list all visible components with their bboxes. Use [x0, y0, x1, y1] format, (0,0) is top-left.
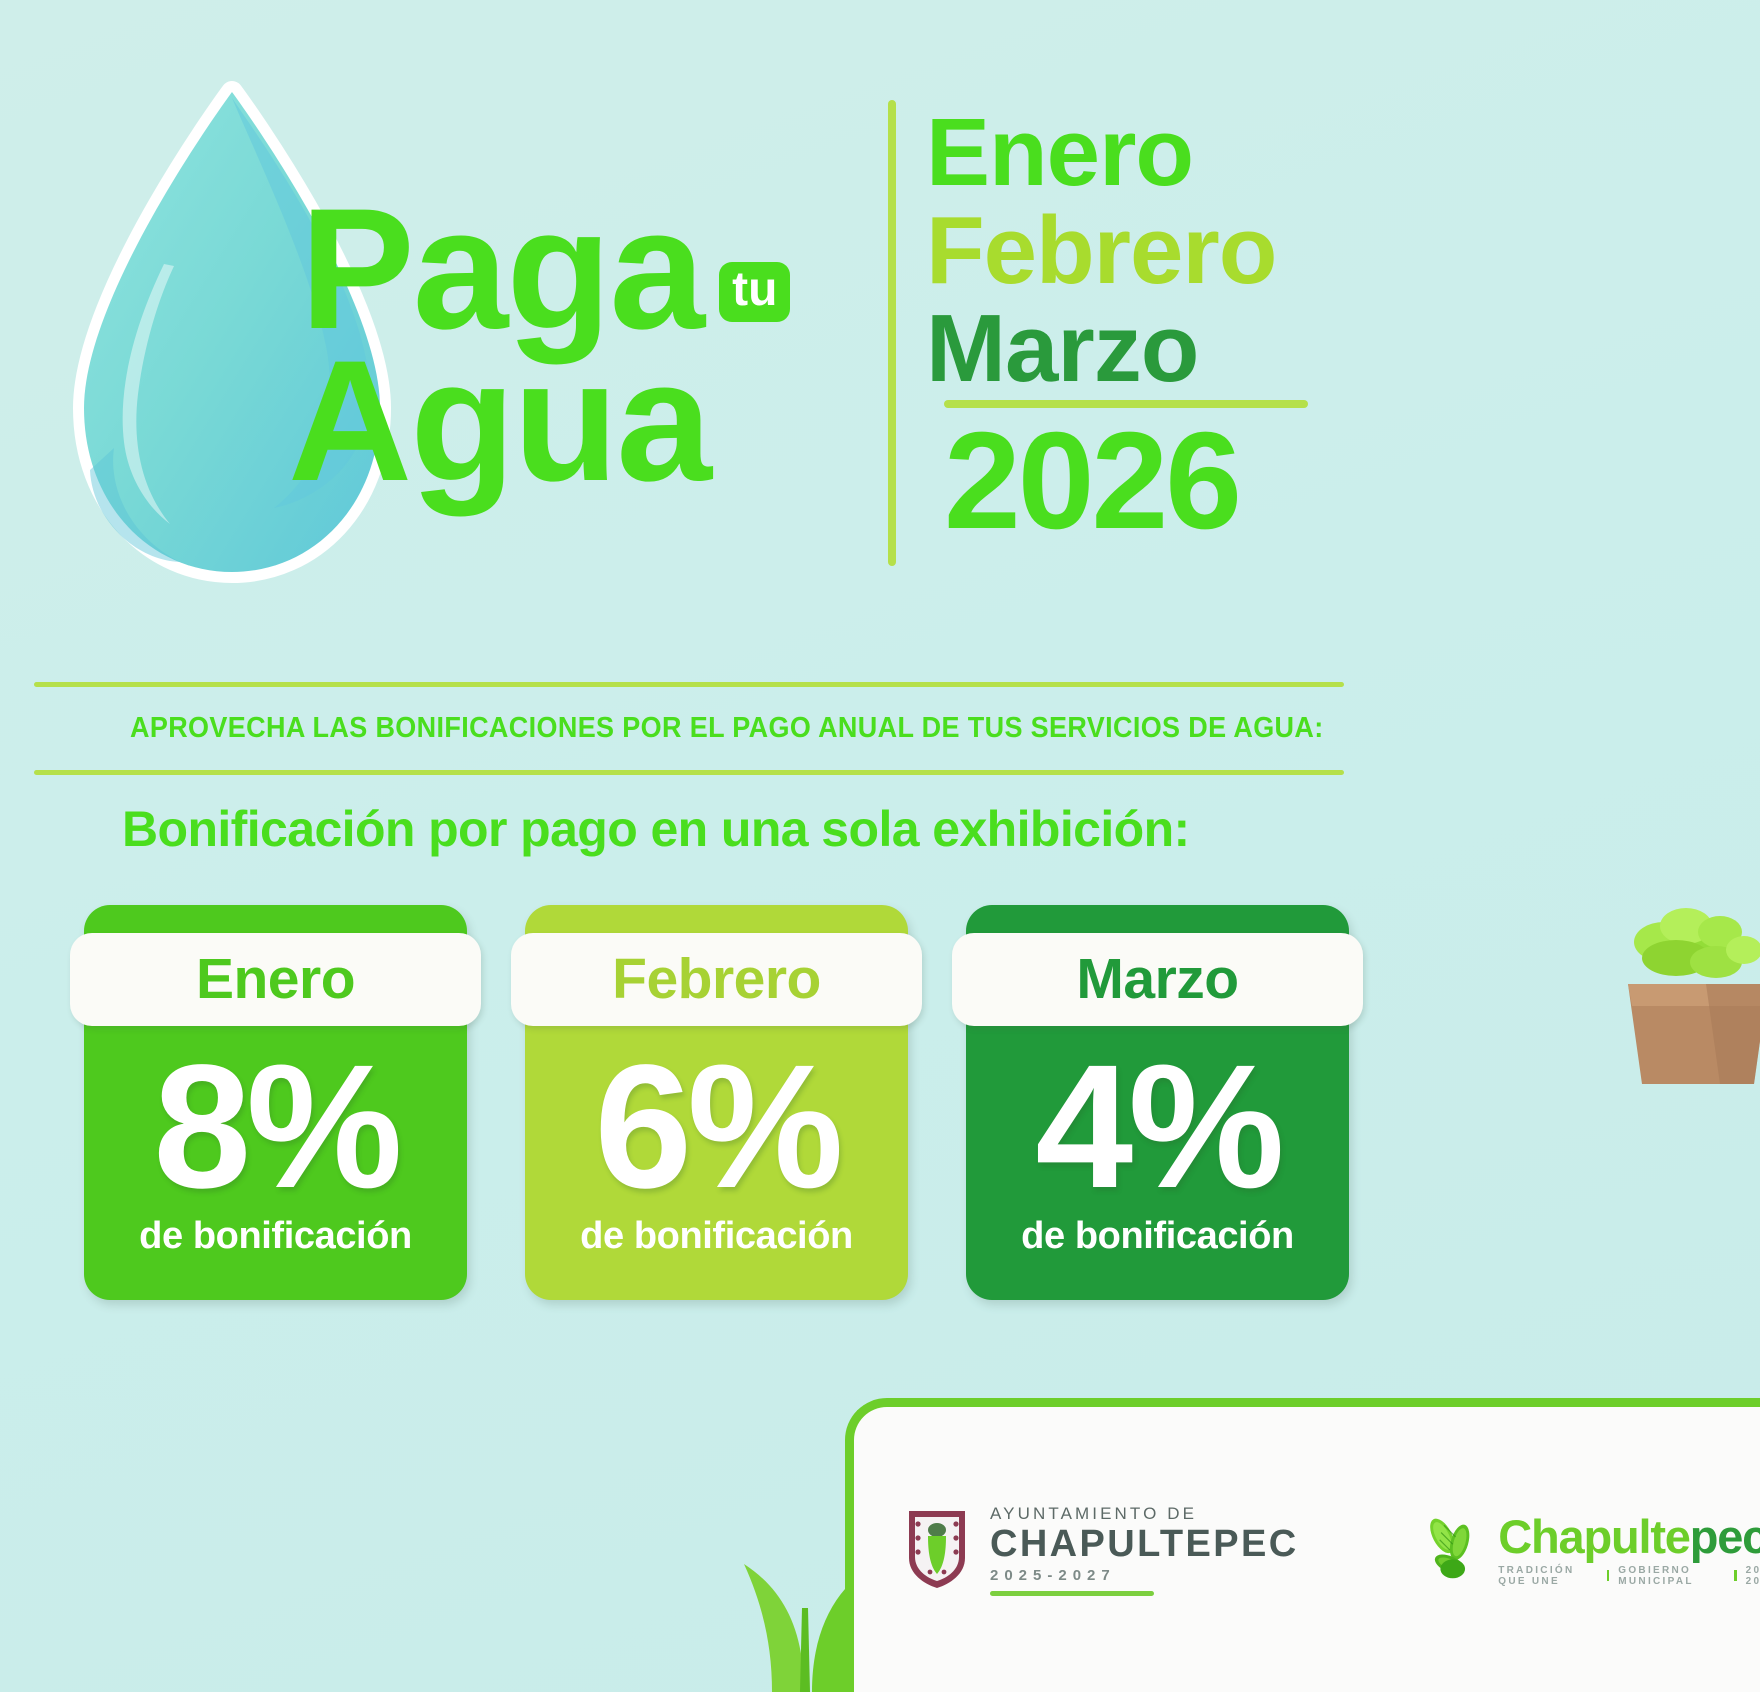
chapultepec-tagline-bar-1: [1607, 1570, 1609, 1581]
discount-card-febrero[interactable]: Febrero 6% de bonificación: [525, 905, 908, 1300]
tu-badge: tu: [719, 262, 790, 322]
section-subtitle: Bonificación por pago en una sola exhibi…: [122, 800, 1190, 858]
chapultepec-tagline-part1: TRADICIÓN QUE UNE: [1498, 1565, 1598, 1587]
corn-maize-icon: [1415, 1502, 1485, 1598]
brand-title-paga: Paga: [300, 196, 703, 344]
ayuntamiento-underline: [990, 1591, 1154, 1596]
card-month-label-enero: Enero: [196, 951, 355, 1008]
ayuntamiento-years: 2025-2027: [990, 1565, 1299, 1588]
campaign-month-marzo: Marzo: [926, 300, 1366, 398]
card-caption-febrero: de bonificación: [580, 1215, 853, 1258]
card-caption-enero: de bonificación: [139, 1215, 412, 1258]
chapultepec-word-dark: pec: [1690, 1510, 1760, 1563]
potted-cactus-icon: [1550, 888, 1760, 1118]
poster-canvas: Paga tu Agua Enero Febrero Marzo 2026 AP…: [0, 0, 1760, 1692]
card-caption-marzo: de bonificación: [1021, 1215, 1294, 1258]
campaign-month-enero: Enero: [926, 104, 1366, 202]
chapultepec-tagline-part3: 2025-2027: [1746, 1565, 1760, 1587]
footer-bar: AYUNTAMIENTO DE CHAPULTEPEC 2025-2027: [845, 1398, 1760, 1692]
discount-cards-row: Enero 8% de bonificación Febrero 6% de b…: [84, 905, 1349, 1300]
card-month-pill-enero: Enero: [70, 933, 481, 1026]
chapultepec-tagline-part2: GOBIERNO MUNICIPAL: [1618, 1565, 1725, 1587]
municipal-shield-crest-icon: [906, 1508, 968, 1590]
hero-vertical-divider: [888, 100, 896, 566]
campaign-month-febrero: Febrero: [926, 202, 1366, 300]
ayuntamiento-logo: AYUNTAMIENTO DE CHAPULTEPEC 2025-2027: [906, 1503, 1299, 1595]
ayuntamiento-prefix: AYUNTAMIENTO DE: [990, 1503, 1299, 1525]
card-percent-enero: 8%: [153, 1055, 397, 1199]
chapultepec-tagline-bar-2: [1734, 1570, 1736, 1581]
brand-wordmark: Paga tu Agua: [300, 196, 920, 496]
chapultepec-tagline: TRADICIÓN QUE UNE GOBIERNO MUNICIPAL 202…: [1498, 1565, 1760, 1587]
campaign-months-list: Enero Febrero Marzo: [926, 104, 1366, 398]
ayuntamiento-text-block: AYUNTAMIENTO DE CHAPULTEPEC 2025-2027: [990, 1503, 1299, 1595]
brand-title-agua: Agua: [288, 348, 710, 496]
discount-card-enero[interactable]: Enero 8% de bonificación: [84, 905, 467, 1300]
campaign-tagline: APROVECHA LAS BONIFICACIONES POR EL PAGO…: [130, 712, 1324, 745]
divider-rule-bottom: [34, 770, 1344, 775]
campaign-year: 2026: [944, 412, 1239, 550]
chapultepec-word-light: Chapulte: [1498, 1510, 1689, 1563]
chapultepec-wordmark: Chapultepec: [1498, 1513, 1760, 1560]
card-percent-marzo: 4%: [1035, 1055, 1279, 1199]
discount-card-marzo[interactable]: Marzo 4% de bonificación: [966, 905, 1349, 1300]
card-month-label-febrero: Febrero: [612, 951, 821, 1008]
divider-rule-top: [34, 682, 1344, 687]
card-month-label-marzo: Marzo: [1076, 951, 1238, 1008]
card-month-pill-marzo: Marzo: [952, 933, 1363, 1026]
ayuntamiento-name: CHAPULTEPEC: [990, 1525, 1299, 1565]
chapultepec-brand-logo: Chapultepec TRADICIÓN QUE UNE GOBIERNO M…: [1415, 1502, 1760, 1598]
card-percent-febrero: 6%: [594, 1055, 838, 1199]
card-month-pill-febrero: Febrero: [511, 933, 922, 1026]
chapultepec-text-block: Chapultepec TRADICIÓN QUE UNE GOBIERNO M…: [1498, 1513, 1760, 1587]
hero-section: Paga tu Agua Enero Febrero Marzo 2026: [0, 0, 1760, 640]
